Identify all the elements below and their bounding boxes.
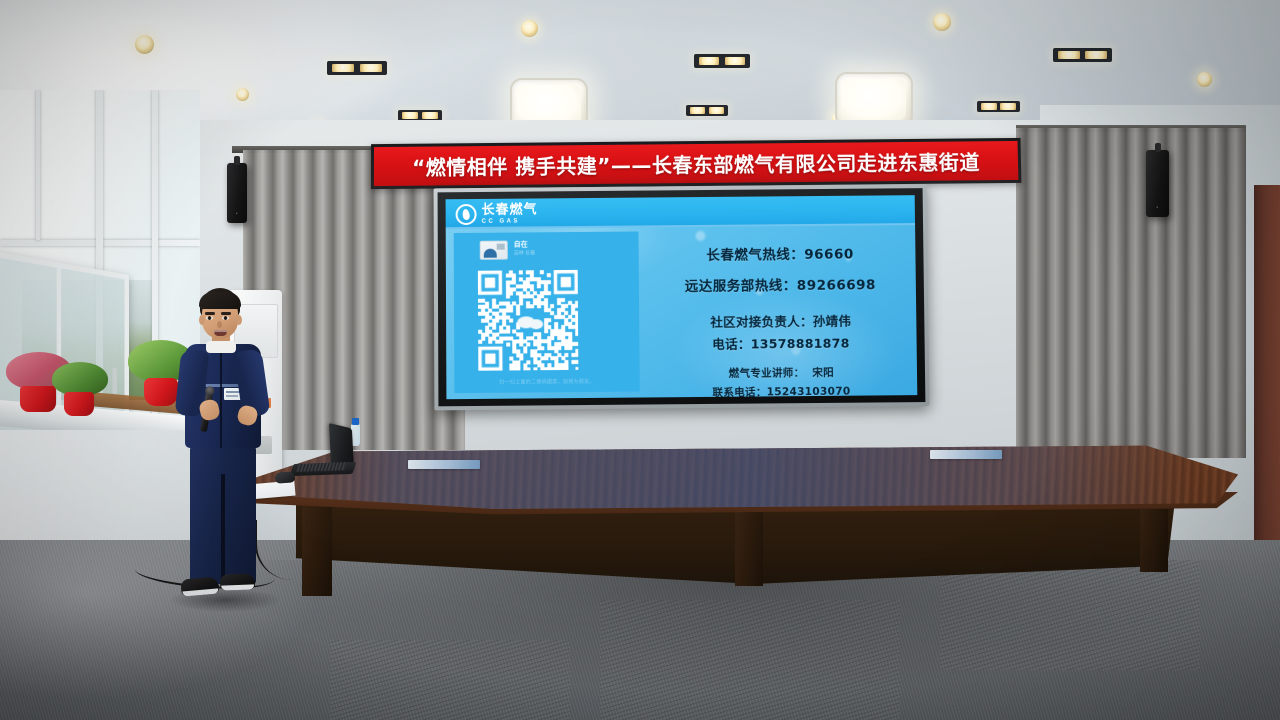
slide-header-band: 长春燃气 CC GAS	[446, 195, 915, 229]
presenter	[172, 288, 290, 618]
table-leg-right	[1140, 498, 1168, 572]
gas-lecturer-phone-value: 15243103070	[767, 386, 851, 399]
table-mic-plate	[408, 460, 480, 469]
banner-inner: “燃情相伴 携手共建”——长春东部燃气有限公司走进东惠街道	[374, 141, 1018, 186]
gas-lecturer: 燃气专业讲师： 宋阳	[729, 365, 834, 381]
contact-info-block: 长春燃气热线：96660 远达服务部热线：89266698 社区对接负责人：孙靖…	[650, 231, 911, 391]
plant-pot	[20, 386, 56, 412]
hotline-yuanda-value: 89266698	[797, 277, 876, 294]
jacket-zipper	[220, 350, 222, 448]
profile-location: 吉林 长春	[514, 250, 535, 257]
speaker-brand-label: •	[227, 211, 247, 217]
hotline-changchun-label: 长春燃气热线：	[706, 247, 804, 264]
presenter-hair-front	[199, 292, 241, 309]
ceiling-downlight	[521, 20, 538, 37]
presenter-mouth	[214, 330, 227, 336]
led-display[interactable]: 长春燃气 CC GAS 自在 吉林 长春	[434, 184, 930, 410]
presenter-leg-split	[221, 474, 225, 586]
ceiling-downlight	[933, 13, 951, 31]
window-mullion	[36, 90, 40, 240]
gas-lecturer-phone-label: 联系电话：	[712, 386, 766, 399]
presenter-brow-left	[205, 312, 215, 315]
presenter-shirt-collar	[206, 341, 236, 353]
community-liaison-value: 孙靖伟	[813, 314, 852, 329]
community-liaison-phone-label: 电话：	[712, 336, 751, 351]
plant-pot	[64, 392, 94, 416]
community-liaison-phone: 电话：13578881878	[712, 333, 850, 353]
ceiling-downlight	[1197, 72, 1212, 87]
ceiling-twin-lamp	[327, 61, 387, 75]
presenter-nose	[217, 321, 222, 328]
qr-caption: 扫一扫上面的二维码图案，加我为朋友。	[454, 377, 639, 386]
presentation-slide: 长春燃气 CC GAS 自在 吉林 长春	[446, 195, 918, 399]
gas-lecturer-value: 宋阳	[812, 367, 834, 379]
event-banner: “燃情相伴 携手共建”——长春东部燃气有限公司走进东惠街道	[371, 138, 1022, 189]
table-mic-plate	[930, 450, 1002, 459]
qr-panel: 自在 吉林 长春 扫一扫上面的二维码图案，加我为朋友。	[454, 231, 640, 393]
wall-speaker-left: •	[227, 163, 247, 223]
speaker-brand-label: •	[1146, 205, 1169, 211]
presenter-ear-left	[199, 315, 205, 325]
logo-name-en: CC GAS	[482, 218, 538, 224]
hotline-yuanda: 远达服务部热线：89266698	[685, 273, 876, 295]
logo-name-cn: 长春燃气	[482, 203, 538, 216]
banner-text: “燃情相伴 携手共建”——长春东部燃气有限公司走进东惠街道	[412, 146, 980, 180]
profile-name: 自在	[514, 240, 535, 249]
table-leg-center	[735, 500, 763, 586]
plant-leaves	[52, 362, 108, 396]
qr-code-image[interactable]	[478, 270, 579, 371]
hotline-changchun-value: 96660	[804, 247, 854, 263]
flame-circle-icon	[456, 203, 477, 224]
profile-avatar	[480, 241, 508, 260]
ceiling-twin-lamp	[977, 101, 1020, 112]
screen-bezel: 长春燃气 CC GAS 自在 吉林 长春	[438, 188, 926, 406]
window-handle[interactable]	[112, 368, 117, 395]
conference-room-photo: • • “燃情相伴 携手共建”——长春东部燃气有限公司走进东惠街道	[0, 0, 1280, 720]
ceiling-twin-lamp	[694, 54, 750, 68]
presenter-shoe-right	[220, 573, 256, 590]
gas-lecturer-phone: 联系电话：15243103070	[712, 384, 850, 400]
hotline-changchun: 长春燃气热线：96660	[706, 243, 854, 264]
ceiling-twin-lamp	[1053, 48, 1112, 62]
curtain-right	[1016, 128, 1246, 458]
community-liaison-label: 社区对接负责人：	[710, 314, 813, 330]
company-logo: 长春燃气 CC GAS	[456, 203, 538, 225]
presenter-eye-left	[206, 316, 213, 320]
presenter-brow-right	[221, 312, 231, 315]
presenter-ear-right	[236, 315, 242, 325]
wall-speaker-right: •	[1146, 150, 1169, 217]
presenter-shoe-left	[180, 576, 219, 596]
ceiling-twin-lamp	[686, 105, 728, 116]
community-liaison: 社区对接负责人：孙靖伟	[710, 311, 851, 331]
qr-profile: 自在 吉林 长春	[480, 240, 535, 259]
potted-plant-middle	[52, 362, 112, 434]
ceiling-downlight	[135, 35, 154, 54]
hotline-yuanda-label: 远达服务部热线：	[685, 278, 797, 295]
community-liaison-phone-value: 13578881878	[751, 336, 850, 352]
ceiling-downlight	[236, 88, 249, 101]
gas-lecturer-label: 燃气专业讲师：	[729, 367, 805, 380]
presenter-eye-right	[222, 316, 229, 320]
